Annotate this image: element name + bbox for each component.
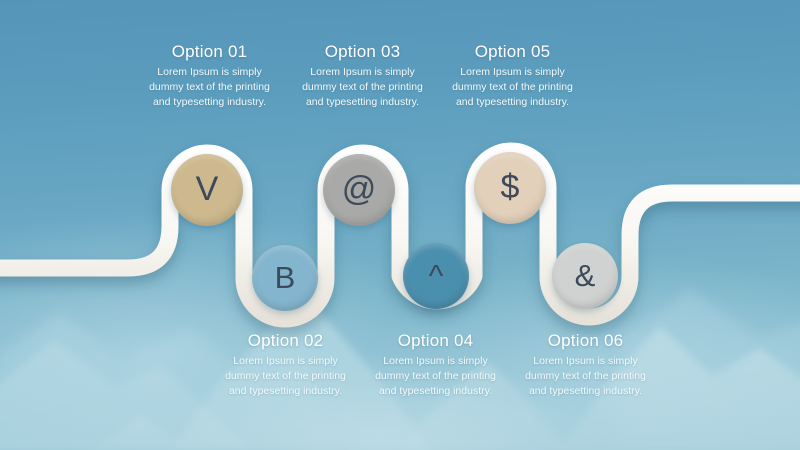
node-circle-2[interactable]: B	[252, 245, 318, 311]
option-06-description-line: Lorem Ipsum is simply	[513, 354, 658, 369]
option-05-description: Lorem Ipsum is simplydummy text of the p…	[440, 65, 585, 111]
node-symbol-caret-up: ^	[429, 260, 444, 291]
option-03: Option 03Lorem Ipsum is simplydummy text…	[290, 42, 435, 111]
node-circle-6[interactable]: &	[552, 243, 618, 309]
option-04-description-line: and typesetting industry.	[363, 384, 508, 399]
option-06-title: Option 06	[513, 331, 658, 351]
option-05-description-line: Lorem Ipsum is simply	[440, 65, 585, 80]
option-03-title: Option 03	[290, 42, 435, 62]
option-01: Option 01Lorem Ipsum is simplydummy text…	[137, 42, 282, 111]
option-04-title: Option 04	[363, 331, 508, 351]
option-03-description-line: and typesetting industry.	[290, 95, 435, 110]
option-01-description-line: and typesetting industry.	[137, 95, 282, 110]
option-04: Option 04Lorem Ipsum is simplydummy text…	[363, 331, 508, 400]
node-symbol-dollar-sign: $	[501, 170, 520, 204]
option-05: Option 05Lorem Ipsum is simplydummy text…	[440, 42, 585, 111]
option-06-description: Lorem Ipsum is simplydummy text of the p…	[513, 354, 658, 400]
node-symbol-letter-b: B	[275, 262, 296, 293]
option-01-description-line: Lorem Ipsum is simply	[137, 65, 282, 80]
option-03-description-line: Lorem Ipsum is simply	[290, 65, 435, 80]
node-symbol-at-sign: @	[342, 172, 377, 206]
option-02-title: Option 02	[213, 331, 358, 351]
node-symbol-letter-v: V	[196, 172, 219, 206]
option-02-description-line: dummy text of the printing	[213, 369, 358, 384]
infographic-canvas: VB@^$& Option 01Lorem Ipsum is simplydum…	[0, 0, 800, 450]
option-04-description-line: dummy text of the printing	[363, 369, 508, 384]
option-05-description-line: and typesetting industry.	[440, 95, 585, 110]
option-05-title: Option 05	[440, 42, 585, 62]
option-06: Option 06Lorem Ipsum is simplydummy text…	[513, 331, 658, 400]
option-05-description-line: dummy text of the printing	[440, 80, 585, 95]
node-circle-4[interactable]: ^	[403, 243, 469, 309]
option-06-description-line: dummy text of the printing	[513, 369, 658, 384]
option-02-description: Lorem Ipsum is simplydummy text of the p…	[213, 354, 358, 400]
option-02-description-line: and typesetting industry.	[213, 384, 358, 399]
option-02: Option 02Lorem Ipsum is simplydummy text…	[213, 331, 358, 400]
option-01-title: Option 01	[137, 42, 282, 62]
option-03-description: Lorem Ipsum is simplydummy text of the p…	[290, 65, 435, 111]
option-02-description-line: Lorem Ipsum is simply	[213, 354, 358, 369]
option-04-description: Lorem Ipsum is simplydummy text of the p…	[363, 354, 508, 400]
node-circle-1[interactable]: V	[171, 154, 243, 226]
node-circle-3[interactable]: @	[323, 154, 395, 226]
node-symbol-ampersand: &	[575, 260, 596, 291]
option-04-description-line: Lorem Ipsum is simply	[363, 354, 508, 369]
option-01-description-line: dummy text of the printing	[137, 80, 282, 95]
node-circle-5[interactable]: $	[474, 152, 546, 224]
option-06-description-line: and typesetting industry.	[513, 384, 658, 399]
option-03-description-line: dummy text of the printing	[290, 80, 435, 95]
option-01-description: Lorem Ipsum is simplydummy text of the p…	[137, 65, 282, 111]
